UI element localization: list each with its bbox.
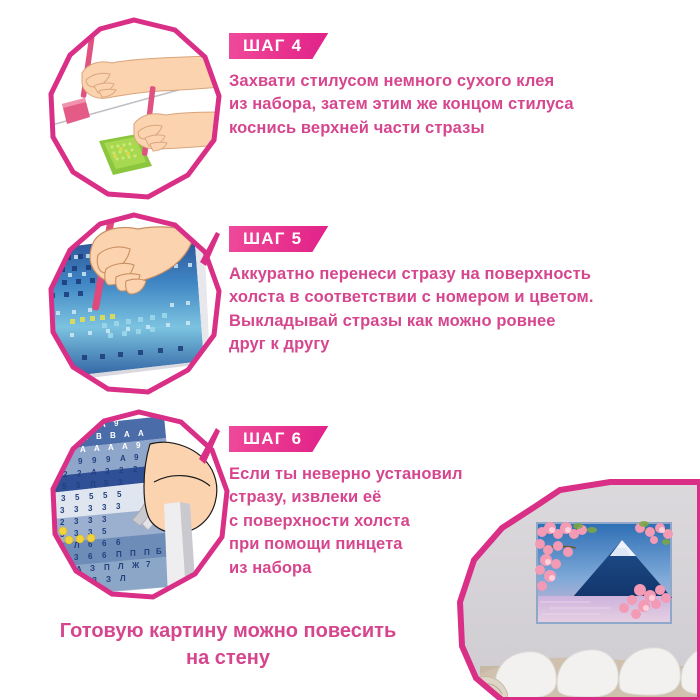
svg-text:5: 5 <box>86 587 91 596</box>
svg-text:5: 5 <box>62 482 67 491</box>
instruction-infographic: ШАГ4 Захвати стилусом немного сухого кле… <box>0 0 700 700</box>
svg-text:3: 3 <box>105 467 110 476</box>
svg-text:П: П <box>144 548 150 557</box>
svg-text:Л: Л <box>120 574 126 583</box>
svg-text:Л: Л <box>46 555 52 564</box>
svg-text:2: 2 <box>49 471 54 480</box>
svg-text:9: 9 <box>106 455 111 464</box>
step-4-line-2: из набора, затем этим же концом стилуса <box>229 93 694 116</box>
step-6-badge-label: ШАГ <box>243 429 286 448</box>
svg-text:А: А <box>72 422 78 431</box>
svg-text:А: А <box>108 443 114 452</box>
step-4-badge-label: ШАГ <box>243 36 286 55</box>
accent-sliver-5 <box>198 232 220 271</box>
step-5-badge: ШАГ5 <box>229 226 328 252</box>
svg-text:9: 9 <box>92 456 97 465</box>
svg-text:Л: Л <box>118 562 124 571</box>
svg-text:5: 5 <box>46 531 51 540</box>
svg-text:5: 5 <box>76 481 81 490</box>
step-5-line-3: Выкладывай стразы как можно ровнее <box>229 310 694 333</box>
svg-text:П: П <box>130 549 136 558</box>
hands-with-stylus-and-glue-pad-icon <box>42 16 227 204</box>
svg-text:А: А <box>122 442 128 451</box>
finished-painting-on-wall-photo <box>440 478 700 700</box>
svg-text:А: А <box>64 578 70 587</box>
svg-text:2: 2 <box>119 466 124 475</box>
svg-text:Л: Л <box>90 480 96 489</box>
svg-text:9: 9 <box>86 421 91 430</box>
svg-text:9: 9 <box>50 459 55 468</box>
svg-text:А: А <box>62 566 68 575</box>
svg-text:6: 6 <box>102 551 107 560</box>
svg-text:5: 5 <box>89 492 94 501</box>
svg-text:З: З <box>78 577 83 586</box>
step-6-badge-number: 6 <box>292 429 303 448</box>
svg-text:5: 5 <box>102 527 107 536</box>
svg-text:А: А <box>91 468 97 477</box>
step-4-text: ШАГ4 Захвати стилусом немного сухого кле… <box>229 33 694 140</box>
svg-text:5: 5 <box>72 588 77 597</box>
svg-text:3: 3 <box>102 515 107 524</box>
svg-text:А: А <box>80 445 86 454</box>
step-5-text: ШАГ5 Аккуратно перенеси стразу на поверх… <box>229 226 694 357</box>
caption-line-1: Готовую картину можно повесить <box>18 618 438 645</box>
step-5-line-4: друг к другу <box>229 333 694 356</box>
svg-text:З: З <box>48 567 53 576</box>
svg-text:Б: Б <box>156 547 162 556</box>
step-4-badge-number: 4 <box>292 36 303 55</box>
svg-text:З: З <box>90 564 95 573</box>
svg-text:7: 7 <box>146 560 151 569</box>
step-5-line-2: холста в соответствии с номером и цветом… <box>229 286 694 309</box>
svg-text:В: В <box>110 431 116 440</box>
step-6-badge: ШАГ6 <box>229 426 328 452</box>
svg-text:3: 3 <box>116 502 121 511</box>
step-4-line-1: Захвати стилусом немного сухого клея <box>229 70 694 93</box>
svg-text:2: 2 <box>60 518 65 527</box>
svg-text:А: А <box>50 579 56 588</box>
step-4-illustration <box>42 16 227 204</box>
svg-text:А: А <box>120 454 126 463</box>
svg-text:3: 3 <box>88 504 93 513</box>
svg-text:3: 3 <box>74 553 79 562</box>
svg-text:П: П <box>104 563 110 572</box>
step-4-body: Захвати стилусом немного сухого клея из … <box>229 70 694 140</box>
svg-text:3: 3 <box>74 517 79 526</box>
svg-text:3: 3 <box>46 519 51 528</box>
svg-text:3: 3 <box>60 506 65 515</box>
svg-text:А: А <box>52 447 58 456</box>
svg-text:З: З <box>106 575 111 584</box>
step-4-badge: ШАГ4 <box>229 33 328 59</box>
svg-text:3: 3 <box>74 505 79 514</box>
svg-text:2: 2 <box>133 465 138 474</box>
svg-text:В: В <box>68 434 74 443</box>
svg-text:5: 5 <box>103 491 108 500</box>
caption-line-2: на стену <box>18 645 438 672</box>
svg-text:3: 3 <box>88 516 93 525</box>
svg-text:5: 5 <box>117 490 122 499</box>
svg-text:3: 3 <box>61 494 66 503</box>
svg-text:3: 3 <box>102 503 107 512</box>
step-4-line-3: коснись верхней части стразы <box>229 117 694 140</box>
svg-text:3: 3 <box>118 478 123 487</box>
svg-text:Б: Б <box>58 423 64 432</box>
svg-text:9: 9 <box>54 435 59 444</box>
svg-text:6: 6 <box>88 552 93 561</box>
svg-text:6: 6 <box>102 539 107 548</box>
svg-text:А: А <box>94 444 100 453</box>
svg-text:9: 9 <box>136 441 141 450</box>
step-5-body: Аккуратно перенеси стразу на поверхность… <box>229 263 694 357</box>
svg-text:2: 2 <box>77 469 82 478</box>
svg-text:3: 3 <box>46 507 51 516</box>
svg-text:Л: Л <box>46 543 52 552</box>
closing-caption: Готовую картину можно повесить на стену <box>18 618 438 672</box>
svg-text:Л: Л <box>58 589 64 598</box>
svg-text:В: В <box>96 432 102 441</box>
svg-text:А: А <box>138 429 144 438</box>
svg-text:9: 9 <box>134 453 139 462</box>
svg-text:6: 6 <box>116 538 121 547</box>
svg-text:5: 5 <box>75 493 80 502</box>
svg-text:9: 9 <box>78 457 83 466</box>
svg-text:А: А <box>124 430 130 439</box>
step-5-line-1: Аккуратно перенеси стразу на поверхность <box>229 263 694 286</box>
svg-text:5: 5 <box>104 479 109 488</box>
svg-text:П: П <box>116 550 122 559</box>
finished-painting-panel <box>440 478 700 700</box>
svg-text:Ж: Ж <box>131 561 140 570</box>
step-5-badge-label: ШАГ <box>243 229 286 248</box>
accent-sliver-6 <box>196 428 220 469</box>
step-5-badge-number: 5 <box>292 229 303 248</box>
